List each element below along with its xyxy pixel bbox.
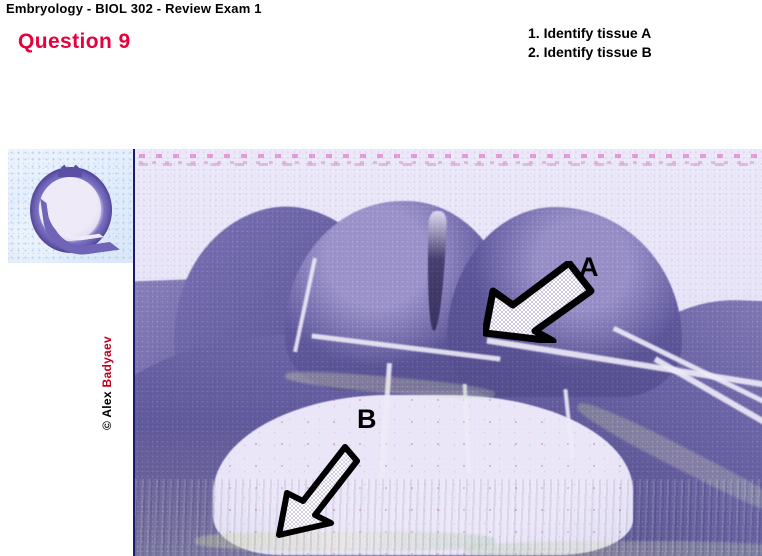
micrograph-grain (135, 149, 762, 556)
prompt-item-2: 2. Identify tissue B (528, 43, 652, 62)
page-title: Question 9 (18, 30, 131, 54)
copyright-prefix: © Alex (100, 387, 114, 430)
prompt-item-1: 1. Identify tissue A (528, 24, 652, 43)
embryo-neural-fold-notch (58, 163, 82, 177)
question-prompt-list: 1. Identify tissue A 2. Identify tissue … (528, 24, 652, 62)
annotation-arrow-b (275, 437, 361, 541)
annotation-label-b: B (357, 406, 377, 433)
neural-fold-histology-micrograph: A B (133, 149, 762, 556)
figure-stage: © Alex Badyaev (0, 149, 762, 556)
annotation-label-a: A (579, 254, 599, 281)
thumbnail-column: © Alex Badyaev (0, 149, 133, 556)
overview-thumbnail-image (8, 149, 133, 263)
course-title: Embryology - BIOL 302 - Review Exam 1 (6, 1, 262, 16)
copyright-owner: Badyaev (100, 336, 114, 387)
